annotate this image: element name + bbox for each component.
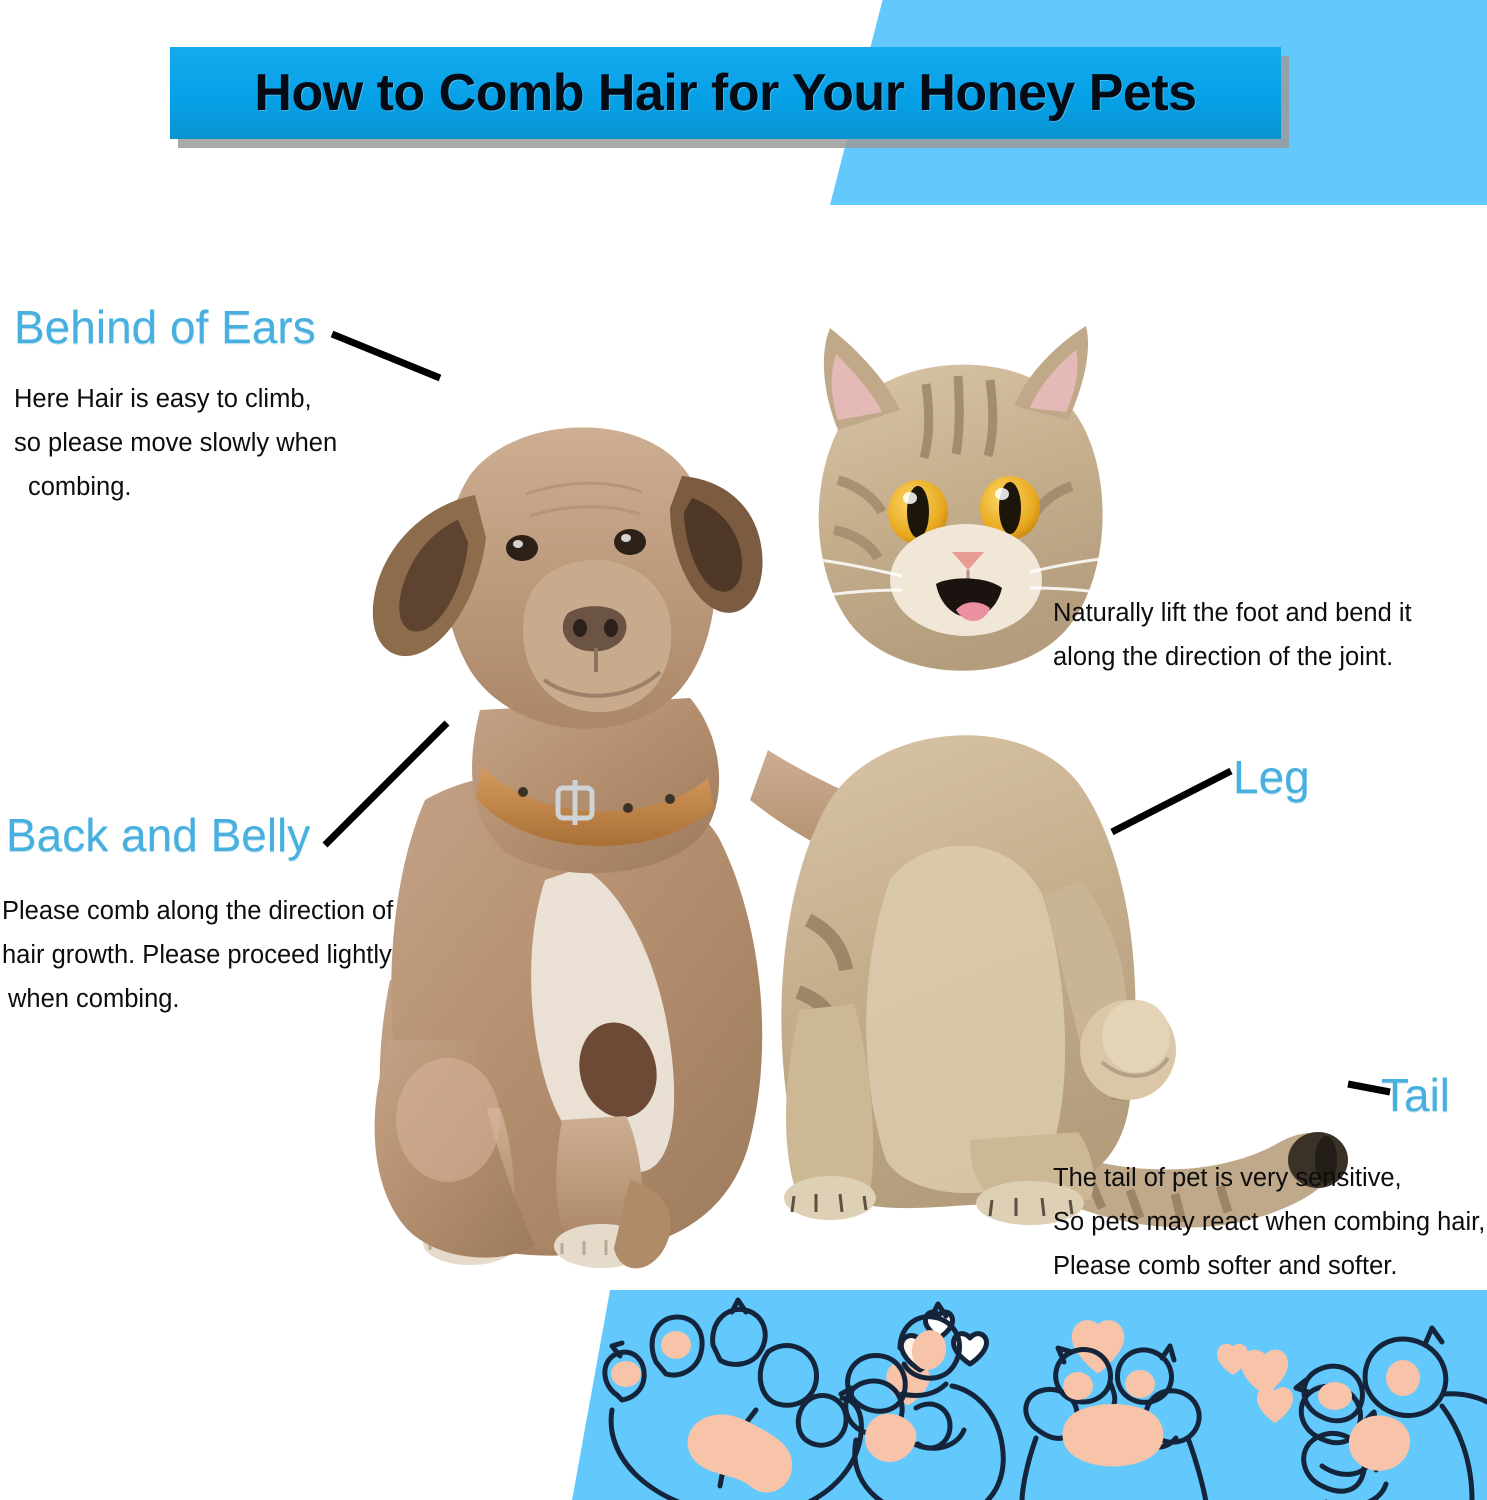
heart-cluster [1219, 1346, 1290, 1420]
callout-line: The tail of pet is very sensitive, [1053, 1157, 1485, 1201]
callout-heading-leg: Leg [1233, 750, 1310, 804]
callout-line: so please move slowly when [14, 422, 337, 466]
callout-line: Please comb along the direction of [2, 890, 393, 934]
callout-line: hair growth. Please proceed lightly [2, 934, 393, 978]
pets-illustration [330, 280, 1390, 1290]
pets-photo [330, 280, 1390, 1290]
infographic-page: How to Comb Hair for Your Honey Pets [0, 0, 1487, 1500]
callout-heading-behind-of-ears: Behind of Ears [14, 300, 316, 354]
paw-doodle-2 [846, 1304, 1004, 1500]
title-bar: How to Comb Hair for Your Honey Pets [170, 47, 1281, 139]
callout-body-back-and-belly: Please comb along the direction of hair … [2, 890, 393, 1022]
callout-line: Here Hair is easy to climb, [14, 378, 337, 422]
callout-line: when combing. [2, 978, 393, 1022]
callout-body-tail: The tail of pet is very sensitive, So pe… [1053, 1157, 1485, 1289]
callout-line: combing. [14, 466, 337, 510]
header: How to Comb Hair for Your Honey Pets [0, 0, 1487, 215]
paw-doodle-art [560, 1290, 1487, 1500]
callout-heading-tail: Tail [1381, 1068, 1450, 1122]
paw-doodle-1 [605, 1300, 927, 1500]
paw-doodle-4 [1296, 1328, 1487, 1500]
page-title: How to Comb Hair for Your Honey Pets [254, 63, 1196, 123]
bottom-banner [560, 1290, 1487, 1500]
callout-heading-back-and-belly: Back and Belly [6, 808, 310, 862]
callout-body-behind-of-ears: Here Hair is easy to climb, so please mo… [14, 378, 337, 510]
callout-line: along the direction of the joint. [1053, 636, 1412, 680]
paw-doodle-3 [1022, 1323, 1206, 1500]
callout-line: Please comb softer and softer. [1053, 1245, 1485, 1289]
callout-body-foot: Naturally lift the foot and bend it alon… [1053, 592, 1412, 680]
callout-line: So pets may react when combing hair, [1053, 1201, 1485, 1245]
callout-line: Naturally lift the foot and bend it [1053, 592, 1412, 636]
